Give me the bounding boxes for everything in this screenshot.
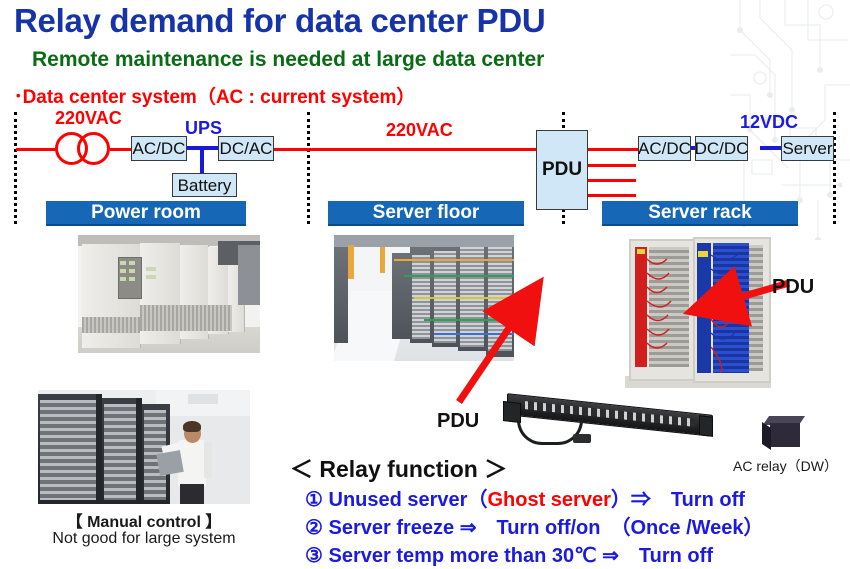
banner-server-rack: Server rack xyxy=(602,201,798,226)
block-acdc-1: AC/DC xyxy=(131,136,187,161)
banner-server-floor: Server floor xyxy=(328,201,524,226)
photo-ac-relay xyxy=(760,416,808,452)
wire-220vac-run xyxy=(272,148,536,151)
relay-item-1-number: ① xyxy=(305,489,323,511)
wire-pdu-out-2 xyxy=(588,179,636,182)
relay-item-3-text-a: Server temp more than 30℃ ⇒ Turn off xyxy=(329,545,713,567)
relay-function-item-1: ① Unused server（Ghost server）⇒ Turn off xyxy=(305,483,745,512)
page-title: Relay demand for data center PDU xyxy=(14,2,545,40)
wire-xfmr-acdc xyxy=(110,148,132,151)
pdu-rack-callout-label: PDU xyxy=(772,276,814,299)
pdu-strip-label: PDU xyxy=(437,410,479,433)
manual-control-note: Not good for large system xyxy=(32,530,256,548)
wire-battery xyxy=(200,146,204,174)
divider-power-server xyxy=(307,112,310,224)
photo-manual-control xyxy=(38,390,250,504)
photo-power-room xyxy=(78,235,260,353)
label-220vac-mid: 220VAC xyxy=(386,120,453,141)
block-battery: Battery xyxy=(172,173,237,197)
bullet-text: Data center system（AC : current system） xyxy=(23,87,416,108)
relay-function-item-2: ② Server freeze ⇒ Turn off/on （Once /Wee… xyxy=(305,511,764,540)
block-dcac: DC/AC xyxy=(218,136,274,161)
bullet-data-center-system: •Data center system（AC : current system） xyxy=(16,82,415,109)
block-acdc-2: AC/DC xyxy=(638,136,691,161)
photo-server-floor xyxy=(334,235,514,361)
relay-item-1-text-b: ）⇒ Turn off xyxy=(611,489,745,511)
relay-item-3-number: ③ xyxy=(305,545,323,567)
relay-function-item-3: ③ Server temp more than 30℃ ⇒ Turn off xyxy=(305,539,713,568)
banner-power-room: Power room xyxy=(46,201,246,226)
manual-control-title: 【 Manual control 】 xyxy=(38,508,250,532)
label-220vac-input: 220VAC xyxy=(55,108,122,129)
block-dcdc: DC/DC xyxy=(695,136,748,161)
block-server: Server xyxy=(781,136,834,161)
wire-12vdc xyxy=(760,146,782,150)
relay-item-1-highlight: Ghost server xyxy=(487,489,610,511)
label-12vdc: 12VDC xyxy=(740,112,798,133)
photo-server-rack xyxy=(625,235,771,388)
relay-item-2-text-a: Server freeze ⇒ Turn off/on （Once /Week） xyxy=(329,517,764,539)
relay-item-1-text-a: Unused server（ xyxy=(329,489,488,511)
transformer-icon xyxy=(55,132,113,166)
block-pdu: PDU xyxy=(536,130,588,210)
divider-left xyxy=(14,112,17,224)
wire-pdu-out-1 xyxy=(588,164,636,167)
label-ups: UPS xyxy=(185,118,222,139)
page-subtitle: Remote maintenance is needed at large da… xyxy=(32,48,544,72)
divider-right xyxy=(833,112,836,224)
wire-pdu-out-3 xyxy=(588,194,636,197)
ac-relay-caption: AC relay（DW） xyxy=(733,456,838,476)
wire-input xyxy=(16,148,56,151)
wire-pdu-acdc2 xyxy=(588,148,640,151)
relay-function-heading: ＜ Relay function ＞ xyxy=(290,450,507,484)
bullet-dot-icon: • xyxy=(16,88,21,103)
photo-pdu-strip xyxy=(495,396,715,452)
relay-item-2-number: ② xyxy=(305,517,323,539)
slide-canvas: Relay demand for data center PDU Remote … xyxy=(0,0,850,569)
